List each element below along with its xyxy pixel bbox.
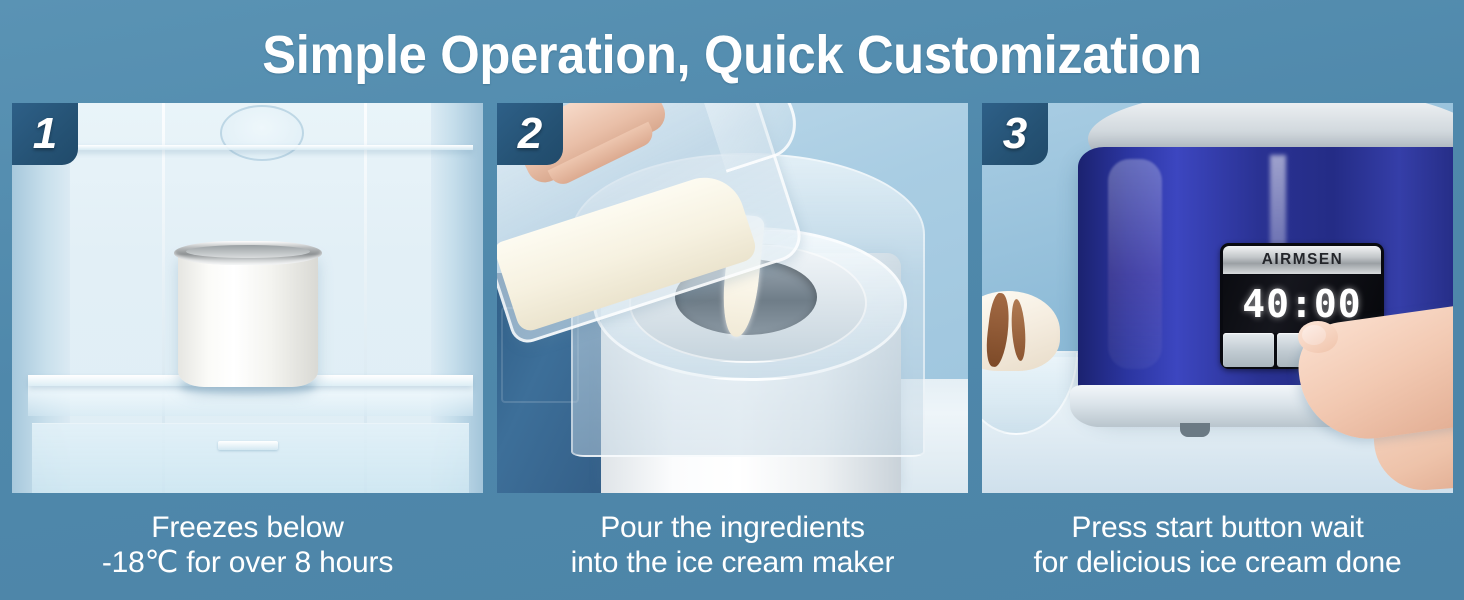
- freezer-shelf-top: [28, 145, 473, 150]
- steps-container: 1 Freezes below -18℃ for over 8 hours: [12, 103, 1452, 580]
- step-1: 1 Freezes below -18℃ for over 8 hours: [12, 103, 483, 580]
- step-2-caption-line-2: into the ice cream maker: [571, 545, 895, 580]
- step-2-caption-line-1: Pour the ingredients: [571, 510, 895, 545]
- infographic-root: Simple Operation, Quick Customization: [0, 0, 1464, 600]
- machine-foot: [1180, 423, 1210, 437]
- freezer-interior-illustration: [12, 103, 483, 493]
- timer-value: 40:00: [1242, 282, 1361, 326]
- step-1-caption-line-2: -18℃ for over 8 hours: [102, 545, 393, 580]
- brand-plate: AIRMSEN: [1223, 246, 1381, 274]
- freezer-drawer-handle: [218, 441, 278, 450]
- freezing-bowl: [174, 239, 322, 389]
- bowl-rim-inner: [186, 245, 310, 258]
- step-3-caption-line-1: Press start button wait: [1034, 510, 1402, 545]
- step-3-image: AIRMSEN 40:00: [982, 103, 1453, 493]
- step-3-badge: 3: [982, 103, 1048, 165]
- freezer-drawer: [32, 423, 469, 493]
- step-3: AIRMSEN 40:00: [982, 103, 1453, 580]
- step-2-image: 2: [497, 103, 968, 493]
- pouring-illustration: [497, 103, 968, 493]
- menu-button[interactable]: [1223, 333, 1274, 367]
- brand-logo: AIRMSEN: [1261, 251, 1343, 269]
- step-3-caption-line-2: for delicious ice cream done: [1034, 545, 1402, 580]
- machine-illustration: AIRMSEN 40:00: [982, 103, 1453, 493]
- freezer-vent-icon: [220, 105, 304, 161]
- bowl-metal-rim: [174, 241, 322, 265]
- step-3-caption: Press start button wait for delicious ic…: [1034, 510, 1402, 580]
- step-2-caption: Pour the ingredients into the ice cream …: [571, 510, 895, 580]
- step-1-badge: 1: [12, 103, 78, 165]
- step-1-image: 1: [12, 103, 483, 493]
- step-1-caption: Freezes below -18℃ for over 8 hours: [102, 510, 393, 580]
- step-2: 2 Pour the ingredients into the ice crea…: [497, 103, 968, 580]
- fingernail: [1302, 325, 1326, 345]
- page-title: Simple Operation, Quick Customization: [44, 22, 1420, 88]
- machine-body-reflection: [1108, 159, 1162, 369]
- step-2-badge: 2: [497, 103, 563, 165]
- step-1-caption-line-1: Freezes below: [102, 510, 393, 545]
- bowl-body: [178, 251, 318, 387]
